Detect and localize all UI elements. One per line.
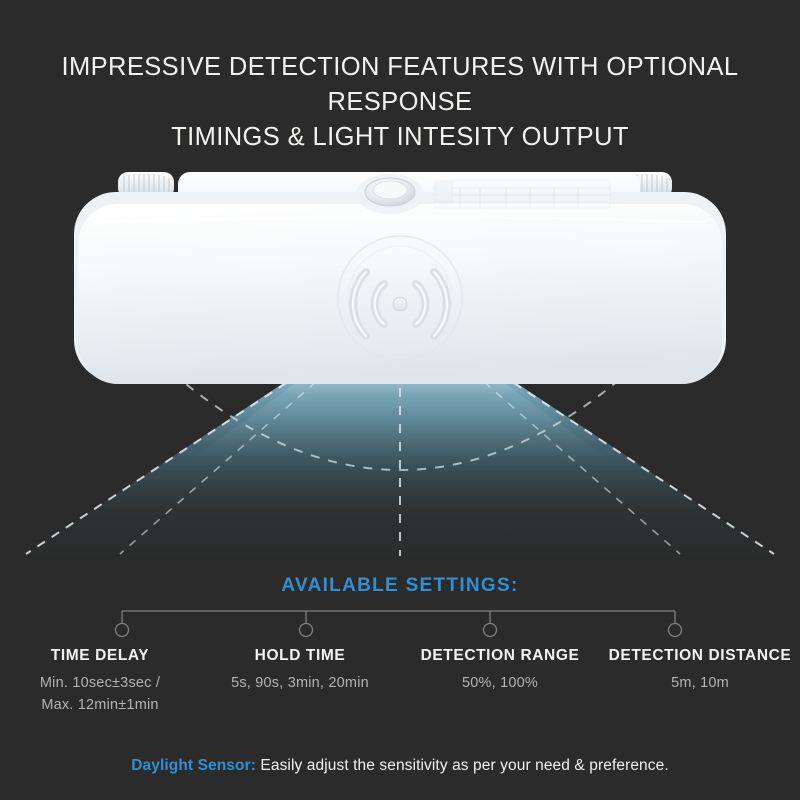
specification-label xyxy=(434,180,610,208)
device-svg xyxy=(68,168,732,396)
setting-title: DETECTION RANGE xyxy=(404,647,596,665)
setting-value: 5m, 10m xyxy=(604,672,796,694)
setting-title: HOLD TIME xyxy=(204,647,396,665)
setting-value: 5s, 90s, 3min, 20min xyxy=(204,672,396,694)
setting-detection-distance: DETECTION DISTANCE 5m, 10m xyxy=(600,647,800,716)
setting-title: DETECTION DISTANCE xyxy=(604,647,796,665)
setting-value: 50%, 100% xyxy=(404,672,596,694)
setting-value: Min. 10sec±3sec / Max. 12min±1min xyxy=(4,672,196,716)
setting-time-delay: TIME DELAY Min. 10sec±3sec / Max. 12min±… xyxy=(0,647,200,716)
setting-title: TIME DELAY xyxy=(4,647,196,665)
daylight-sensor-note: Daylight Sensor: Easily adjust the sensi… xyxy=(0,755,800,777)
motion-sensor-device xyxy=(68,168,732,396)
infographic-canvas: IMPRESSIVE DETECTION FEATURES WITH OPTIO… xyxy=(0,0,800,800)
daylight-sensor-label: Daylight Sensor: xyxy=(131,757,256,774)
device-body xyxy=(78,204,722,384)
daylight-sensor-dome[interactable] xyxy=(356,174,424,214)
page-title: IMPRESSIVE DETECTION FEATURES WITH OPTIO… xyxy=(0,50,800,155)
headline-line-2: TIMINGS & LIGHT INTESITY OUTPUT xyxy=(22,120,778,155)
settings-columns: TIME DELAY Min. 10sec±3sec / Max. 12min±… xyxy=(0,647,800,716)
setting-detection-range: DETECTION RANGE 50%, 100% xyxy=(400,647,600,716)
settings-bracket-svg xyxy=(0,605,800,645)
available-settings-title: AVAILABLE SETTINGS: xyxy=(0,575,800,597)
headline-line-1: IMPRESSIVE DETECTION FEATURES WITH OPTIO… xyxy=(62,53,739,116)
setting-hold-time: HOLD TIME 5s, 90s, 3min, 20min xyxy=(200,647,400,716)
settings-bracket xyxy=(0,605,800,645)
daylight-sensor-description: Easily adjust the sensitivity as per you… xyxy=(256,757,669,774)
